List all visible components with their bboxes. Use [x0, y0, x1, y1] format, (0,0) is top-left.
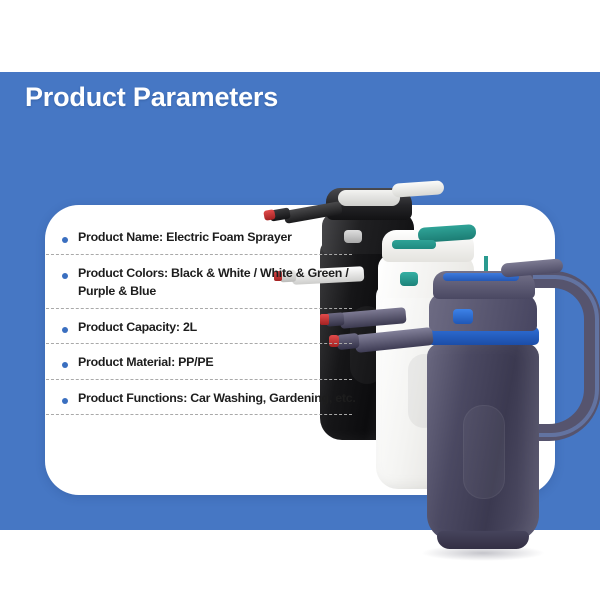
- spec-label: Product Material: PP/PE: [78, 355, 213, 369]
- spec-row-product-colors: Product Colors: Black & White / White & …: [62, 264, 362, 301]
- product-parameters-banner: Product Parameters: [0, 0, 600, 600]
- bottle-base: [437, 531, 529, 549]
- spec-label: Product Capacity: 2L: [78, 320, 197, 334]
- bullet-dot-icon: [62, 362, 68, 368]
- side-handle-highlight: [533, 275, 599, 437]
- spec-label: Product Name: Electric Foam Sprayer: [78, 230, 292, 244]
- lid-plate: [338, 190, 400, 206]
- spec-divider: [46, 343, 352, 344]
- spec-row-product-name: Product Name: Electric Foam Sprayer: [62, 228, 362, 247]
- spec-divider: [46, 414, 352, 415]
- bullet-dot-icon: [62, 273, 68, 279]
- spec-row-product-capacity: Product Capacity: 2L: [62, 318, 362, 337]
- specification-list: Product Name: Electric Foam Sprayer Prod…: [62, 228, 362, 415]
- spec-label: Product Colors: Black & White / White & …: [78, 266, 349, 299]
- teal-lid-accent: [392, 240, 436, 249]
- spec-label: Product Functions: Car Washing, Gardenin…: [78, 391, 356, 405]
- nozzle-tip: [263, 209, 276, 221]
- power-button: [453, 309, 473, 324]
- spec-divider: [46, 254, 352, 255]
- spec-row-product-material: Product Material: PP/PE: [62, 353, 362, 372]
- product-purple-blue-sprayer: [415, 265, 600, 555]
- bullet-dot-icon: [62, 237, 68, 243]
- spec-row-product-functions: Product Functions: Car Washing, Gardenin…: [62, 389, 362, 408]
- page-title: Product Parameters: [25, 82, 278, 113]
- bullet-dot-icon: [62, 398, 68, 404]
- top-handle: [392, 180, 445, 198]
- spec-divider: [46, 308, 352, 309]
- bottle-body: [427, 343, 539, 541]
- bullet-dot-icon: [62, 327, 68, 333]
- spec-divider: [46, 379, 352, 380]
